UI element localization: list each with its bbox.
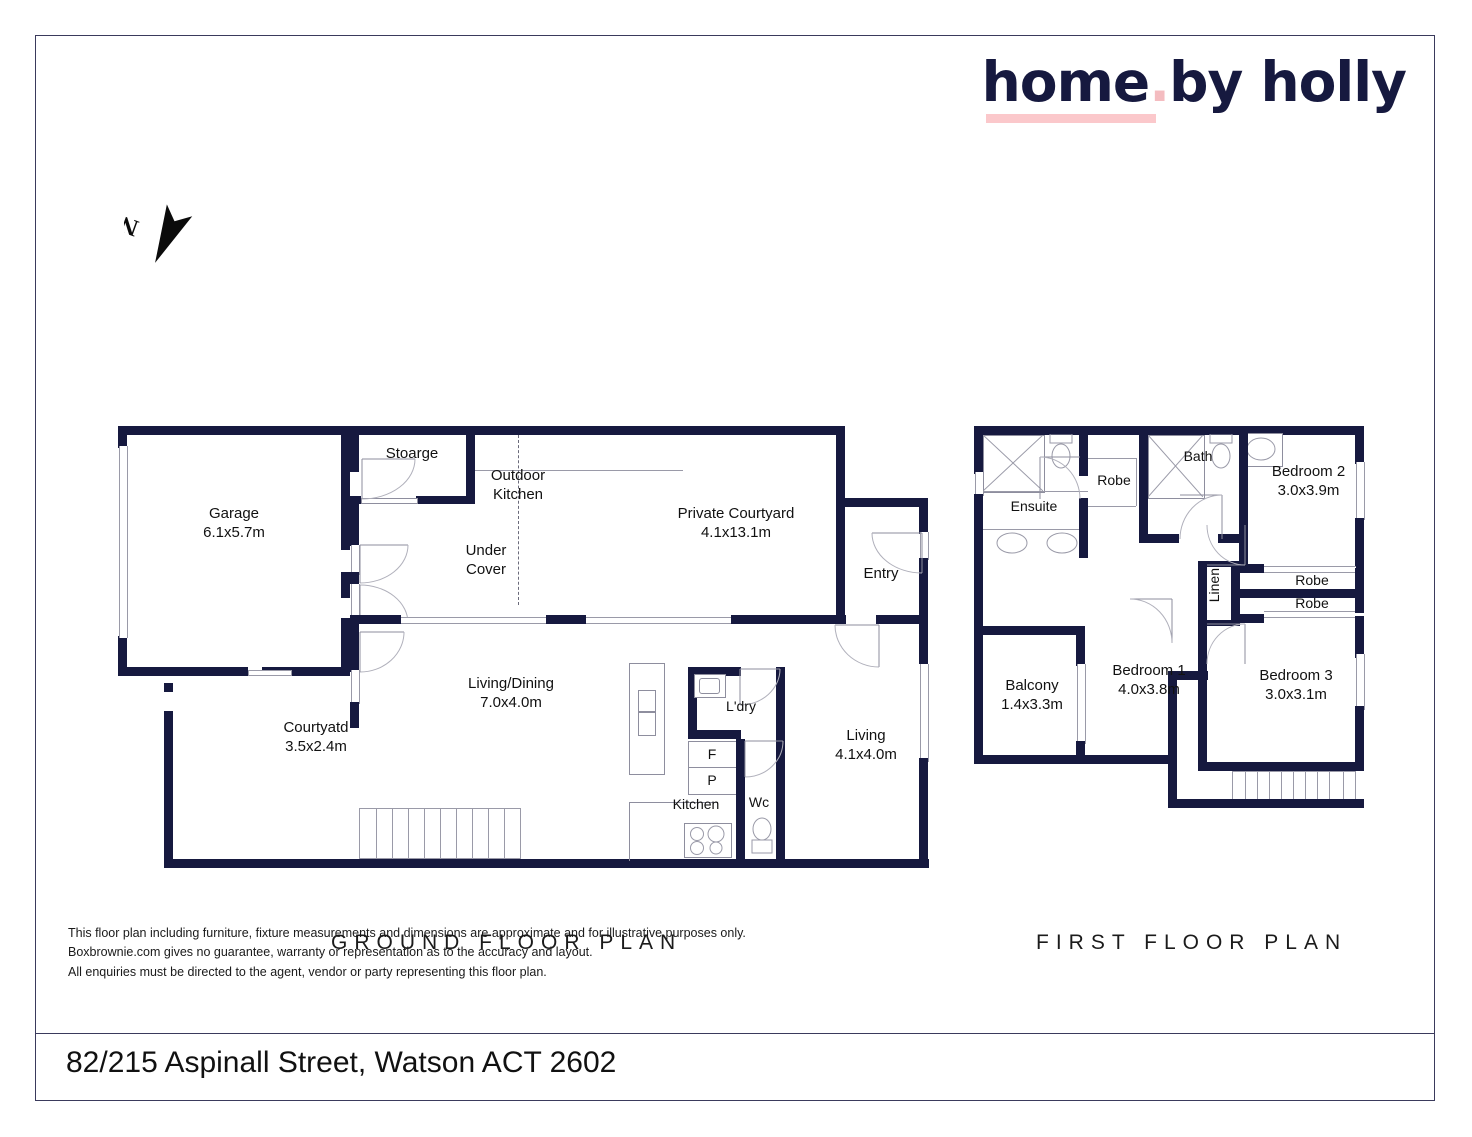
room-label-entry: Entry [846, 564, 916, 583]
brand-logo: home.by holly [982, 54, 1406, 123]
property-address: 82/215 Aspinall Street, Watson ACT 2602 [66, 1046, 616, 1080]
room-label-robe-a: Robe [1276, 572, 1348, 590]
window [351, 670, 360, 704]
wall [1231, 561, 1240, 626]
wall [1139, 426, 1148, 541]
disclaimer: This floor plan including furniture, fix… [68, 924, 746, 982]
wall [341, 572, 350, 598]
wall [1198, 762, 1364, 771]
door-bedroom2 [1206, 524, 1246, 566]
door-ensuite [1039, 456, 1081, 500]
robe-outline [1088, 458, 1136, 459]
window [1356, 654, 1365, 710]
room-label-wc: Wc [724, 794, 794, 812]
laundry-tub-bowl [699, 678, 720, 694]
logo-underline [986, 114, 1156, 123]
wall [974, 626, 1084, 635]
room-label-living-dining: Living/Dining7.0x4.0m [416, 674, 606, 712]
wall [164, 720, 173, 868]
room-label-storage: Stoarge [362, 444, 462, 463]
wall [350, 426, 475, 435]
room-label-robe-top: Robe [1084, 472, 1144, 490]
wall [974, 426, 1364, 435]
wall [118, 667, 248, 676]
basin-icons [992, 532, 1082, 556]
wall [919, 498, 928, 534]
sink-bowl [638, 712, 656, 736]
north-arrow: N [124, 196, 214, 271]
wall [1084, 755, 1174, 764]
logo-text: home.by holly [982, 54, 1406, 112]
room-label-courtyard-small: Courtyatd3.5x2.4m [236, 718, 396, 756]
wall [919, 618, 928, 664]
cooktop-burners [684, 823, 730, 856]
plan-title-first: FIRST FLOOR PLAN [1036, 931, 1347, 955]
disclaimer-line-3: All enquiries must be directed to the ag… [68, 963, 746, 982]
wall [164, 859, 359, 868]
room-label-linen: Linen [1206, 568, 1224, 602]
wall [1355, 518, 1364, 568]
room-label-living: Living4.1x4.0m [791, 726, 941, 764]
wall [836, 498, 845, 615]
door-wc [744, 740, 784, 778]
room-label-bedroom3: Bedroom 33.0x3.1m [1241, 666, 1351, 704]
door-undercover-a [359, 544, 409, 584]
shower-cross-icon [1148, 435, 1203, 497]
wall [475, 426, 845, 435]
garage-door-opening [248, 670, 292, 676]
wall [118, 426, 127, 448]
first-floor-plan: Ensuite Robe Bath Bedroom 23 [936, 386, 1406, 886]
room-label-private-courtyard: Private Courtyard4.1x13.1m [636, 504, 836, 542]
wall [836, 498, 928, 507]
logo-text-home: home [982, 50, 1150, 114]
room-label-robe-b: Robe [1276, 595, 1348, 613]
wall [350, 504, 359, 546]
wall [164, 683, 173, 692]
ground-floor-plan: Garage6.1x5.7m Stoarge OutdoorKitchen [76, 386, 906, 886]
disclaimer-line-1: This floor plan including furniture, fix… [68, 924, 746, 943]
wall [1076, 626, 1085, 666]
door-courtyard [359, 631, 405, 673]
disclaimer-line-2: Boxbrownie.com gives no guarantee, warra… [68, 943, 746, 962]
room-label-laundry: L'dry [701, 698, 781, 716]
wall [1355, 426, 1364, 464]
address-bar: 82/215 Aspinall Street, Watson ACT 2602 [36, 1033, 1434, 1100]
wall [974, 494, 983, 634]
room-label-balcony: Balcony1.4x3.3m [978, 676, 1086, 714]
sink-bowl [638, 690, 656, 712]
room-label-bath: Bath [1158, 448, 1238, 466]
door-entry-inner [834, 624, 880, 668]
wall [1139, 534, 1179, 543]
vanity-counter [983, 529, 1088, 530]
wall [118, 426, 350, 435]
north-label: N [124, 210, 142, 241]
wall [1239, 614, 1264, 623]
shower-cross-icon [983, 435, 1043, 491]
wall [350, 624, 359, 672]
wall [341, 426, 350, 550]
door-bedroom1 [1129, 598, 1173, 644]
basin-icon [1244, 436, 1278, 462]
robe-outline [1088, 506, 1136, 507]
wall [546, 615, 586, 624]
room-label-garage: Garage6.1x5.7m [154, 504, 314, 542]
wall [1355, 568, 1364, 613]
wall [359, 615, 401, 624]
door-bedroom3 [1206, 623, 1246, 665]
room-label-outdoor-kitchen: OutdoorKitchen [454, 466, 582, 504]
logo-text-byholly: by holly [1169, 50, 1406, 114]
wall [836, 426, 845, 498]
floor-plan-sheet: home.by holly N Garage6.1x5.7m [35, 35, 1435, 1101]
wall [350, 572, 359, 584]
wall [164, 711, 173, 720]
wall [974, 426, 983, 474]
window [119, 446, 128, 638]
room-label-ensuite: Ensuite [984, 498, 1084, 516]
wall [731, 615, 846, 624]
wall [688, 730, 741, 739]
area-divider [518, 435, 519, 605]
toilet-icon [748, 816, 776, 856]
label-pantry: P [688, 772, 736, 790]
wall [1168, 799, 1364, 808]
logo-dot: . [1149, 50, 1169, 114]
window [586, 617, 731, 624]
door-storage [361, 458, 417, 500]
wall [1355, 616, 1364, 658]
stairs-ground [359, 808, 521, 859]
room-label-bedroom2: Bedroom 23.0x3.9m [1256, 462, 1361, 500]
label-fridge: F [688, 746, 736, 764]
room-label-bedroom1: Bedroom 14.0x3.8m [1084, 661, 1214, 699]
wall [350, 496, 361, 504]
window [401, 617, 546, 624]
room-label-under-cover: UnderCover [431, 541, 541, 579]
wall [919, 758, 928, 863]
